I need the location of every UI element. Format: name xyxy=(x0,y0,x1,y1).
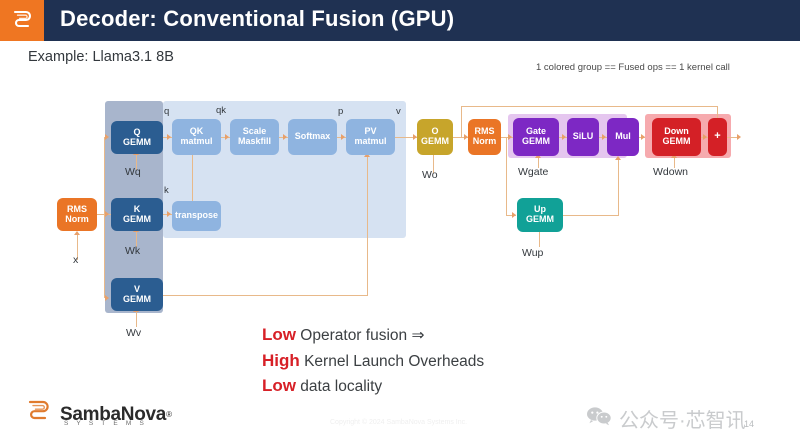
node-label-line1: QK xyxy=(190,126,204,136)
takeaway-keyword-low-1: Low xyxy=(262,325,296,344)
watermark-text: 公众号·芯智讯 xyxy=(619,404,746,433)
node-label-line1: + xyxy=(714,131,720,143)
arrowhead-mul-down xyxy=(641,134,645,140)
takeaway-line-1: Low Operator fusion ⇒ xyxy=(262,322,484,348)
takeaway-body-1: Operator fusion ⇒ xyxy=(296,327,424,344)
node-k-gemm[interactable]: K GEMM xyxy=(111,198,163,231)
node-label-line1: Down xyxy=(664,126,689,136)
node-label-line1: Up xyxy=(534,204,546,214)
arrowhead-q-qkmatmul xyxy=(167,134,171,140)
node-label-line2: GEMM xyxy=(123,214,151,224)
arrowhead-down-add xyxy=(703,134,707,140)
takeaway-text: Low Operator fusion ⇒ High Kernel Launch… xyxy=(262,322,484,399)
edge-transpose-to-qkmatmul xyxy=(192,155,193,201)
arrowhead-x-rmsnorm xyxy=(74,231,80,235)
wechat-icon xyxy=(586,406,612,432)
footer-copyright: Copyright © 2024 SambaNova Systems Inc. xyxy=(330,419,467,426)
node-label-line1: Mul xyxy=(615,132,631,142)
label-wq: Wq xyxy=(125,166,141,178)
takeaway-keyword-low-2: Low xyxy=(262,376,296,395)
edge-residual-across xyxy=(461,106,718,107)
arrowhead-softmax-pv xyxy=(341,134,345,140)
label-v: v xyxy=(396,106,401,117)
edge-v-to-pv-vertical xyxy=(367,157,368,296)
node-label-line1: O xyxy=(431,126,438,136)
node-down-gemm[interactable]: Down GEMM xyxy=(652,118,701,156)
edge-bus-vertical xyxy=(104,137,105,298)
node-label-line2: GEMM xyxy=(526,214,554,224)
label-k: k xyxy=(164,185,169,196)
takeaway-line-2: High Kernel Launch Overheads xyxy=(262,348,484,374)
node-mul[interactable]: Mul xyxy=(607,118,639,156)
node-label-line2: GEMM xyxy=(663,136,691,146)
node-label-line1: RMS xyxy=(474,126,494,136)
node-label-line2: GEMM xyxy=(123,137,151,147)
arrowhead-k-transpose xyxy=(167,211,171,217)
label-wk: Wk xyxy=(125,245,140,257)
arrowhead-bus-k xyxy=(105,211,109,217)
node-silu[interactable]: SiLU xyxy=(567,118,599,156)
node-label-line2: matmul xyxy=(180,136,212,146)
edge-v-to-pv-horizontal xyxy=(163,295,367,296)
node-label-line2: GEMM xyxy=(123,294,151,304)
takeaway-body-3: data locality xyxy=(296,378,382,395)
label-wdown: Wdown xyxy=(653,166,688,178)
label-wo: Wo xyxy=(422,169,438,181)
arrowhead-qk-scale xyxy=(225,134,229,140)
label-x: x xyxy=(73,254,78,266)
footer-brand-sub: S Y S T E M S xyxy=(64,420,147,427)
node-rms-norm-mlp[interactable]: RMS Norm xyxy=(468,119,501,155)
label-wv: Wv xyxy=(126,327,141,339)
node-label-line2: Norm xyxy=(65,214,89,224)
node-label-line1: Scale xyxy=(243,126,267,136)
node-label-line2: Norm xyxy=(473,136,497,146)
node-qk-matmul[interactable]: QK matmul xyxy=(172,119,221,155)
takeaway-line-3: Low data locality xyxy=(262,373,484,399)
arrowhead-silu-mul xyxy=(602,134,606,140)
node-label-line2: Maskfill xyxy=(238,136,271,146)
arrowhead-add-output xyxy=(737,134,741,140)
node-transpose[interactable]: transpose xyxy=(172,201,221,231)
page-title: Decoder: Conventional Fusion (GPU) xyxy=(60,6,454,32)
node-label-line1: transpose xyxy=(175,211,218,221)
label-q: q xyxy=(164,106,169,117)
edge-rmsnorm-to-up-vertical xyxy=(506,137,507,215)
page-number: 14 xyxy=(744,419,754,429)
edge-up-to-mul-vertical xyxy=(618,160,619,216)
arrowhead-bus-q xyxy=(105,134,109,140)
arrowhead-bus-v xyxy=(105,295,109,301)
arrowhead-scale-softmax xyxy=(283,134,287,140)
takeaway-keyword-high: High xyxy=(262,351,300,370)
sambanova-mark-icon xyxy=(0,0,44,41)
footer-brand-tm: ® xyxy=(166,410,172,419)
label-wup: Wup xyxy=(522,247,543,259)
node-label-line1: Q xyxy=(133,127,140,137)
node-pv-matmul[interactable]: PV matmul xyxy=(346,119,395,155)
node-up-gemm[interactable]: Up GEMM xyxy=(517,198,563,232)
node-softmax[interactable]: Softmax xyxy=(288,119,337,155)
label-qk: qk xyxy=(216,105,226,116)
arrowhead-gate-silu xyxy=(562,134,566,140)
node-label-line1: K xyxy=(134,204,141,214)
node-scale-maskfill[interactable]: Scale Maskfill xyxy=(230,119,279,155)
node-label-line1: PV xyxy=(364,126,376,136)
node-o-gemm[interactable]: O GEMM xyxy=(417,119,453,155)
node-label-line1: V xyxy=(134,284,140,294)
fusion-legend-note: 1 colored group == Fused ops == 1 kernel… xyxy=(536,62,730,73)
node-rms-norm-input[interactable]: RMS Norm xyxy=(57,198,97,231)
arrowhead-rmsnorm-up xyxy=(512,212,516,218)
arrowhead-up-mul xyxy=(615,156,621,160)
edge-wup xyxy=(539,232,540,247)
sambanova-logo-icon xyxy=(24,398,54,431)
node-label-line2: GEMM xyxy=(522,136,550,146)
node-label-line1: Gate xyxy=(526,126,546,136)
node-label-line1: SiLU xyxy=(573,132,594,142)
node-q-gemm[interactable]: Q GEMM xyxy=(111,121,163,154)
slide-subtitle: Example: Llama3.1 8B xyxy=(28,49,174,65)
edge-residual-up xyxy=(461,106,462,137)
edge-wv xyxy=(136,312,137,327)
edge-up-to-mul-horizontal xyxy=(563,215,618,216)
node-label-line2: GEMM xyxy=(421,136,449,146)
slide-header: Decoder: Conventional Fusion (GPU) xyxy=(0,0,800,41)
node-label-line2: matmul xyxy=(354,136,386,146)
wechat-watermark: 公众号·芯智讯 xyxy=(586,404,746,433)
node-label-line1: Softmax xyxy=(295,132,331,142)
node-label-line1: RMS xyxy=(67,204,87,214)
label-p: p xyxy=(338,106,343,117)
takeaway-body-2: Kernel Launch Overheads xyxy=(300,353,484,370)
label-wgate: Wgate xyxy=(518,166,548,178)
node-gate-gemm[interactable]: Gate GEMM xyxy=(513,118,559,156)
arrowhead-rmsnorm-gate xyxy=(508,134,512,140)
slide-root: Decoder: Conventional Fusion (GPU) Examp… xyxy=(0,0,800,448)
node-add[interactable]: + xyxy=(708,118,727,156)
node-v-gemm[interactable]: V GEMM xyxy=(111,278,163,311)
